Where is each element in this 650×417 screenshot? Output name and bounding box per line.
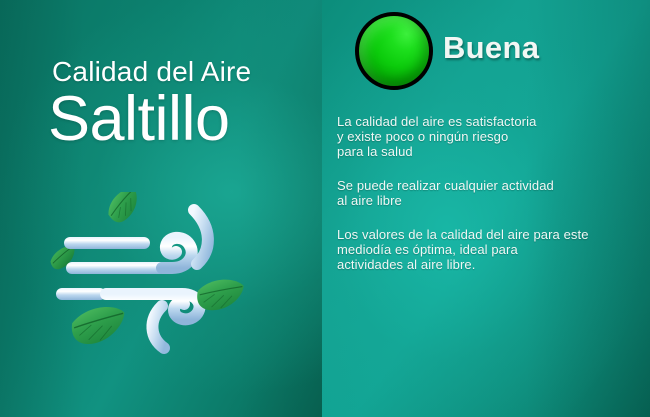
- green-status-dot-icon: [355, 12, 433, 90]
- page-title: Saltillo: [48, 88, 230, 151]
- wind-and-leaves-illustration: [44, 192, 294, 362]
- air-quality-card: Calidad del Aire Saltillo: [0, 0, 650, 417]
- status-row: Buena: [355, 12, 625, 98]
- leaf-icon: [68, 299, 125, 352]
- advice-paragraph: La calidad del aire es satisfactoria y e…: [337, 114, 650, 159]
- advice-text-block: La calidad del aire es satisfactoria y e…: [337, 114, 650, 272]
- wind-stroke: [56, 288, 106, 300]
- status-badge: Buena: [443, 30, 539, 66]
- wind-swirl-upper: [162, 238, 192, 268]
- leaf-icon: [102, 192, 145, 226]
- wind-swirl-lower-tail: [152, 306, 164, 348]
- wind-stroke: [66, 262, 166, 274]
- wind-stroke: [64, 237, 150, 249]
- advice-paragraph: Se puede realizar cualquier actividad al…: [337, 178, 650, 208]
- advice-paragraph: Los valores de la calidad del aire para …: [337, 227, 650, 272]
